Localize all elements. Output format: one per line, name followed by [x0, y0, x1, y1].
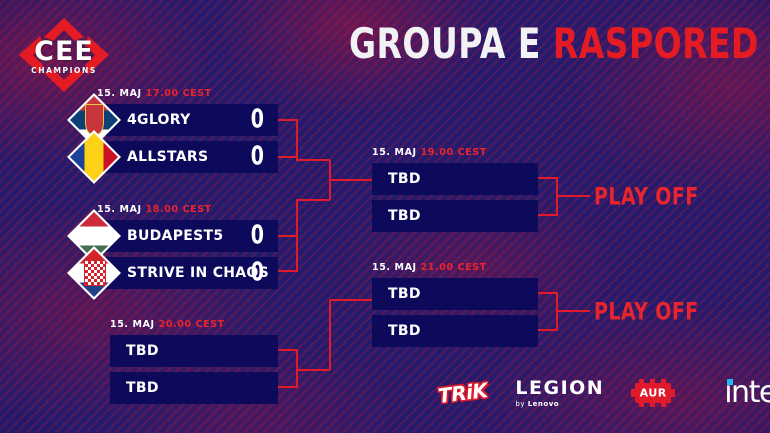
team-name: TBD [388, 208, 421, 224]
match-r1-3: 15. MAJ 20.00 CEST TBD TBD [110, 335, 278, 404]
team-name: TBD [126, 380, 159, 396]
team-score: 0 [251, 107, 264, 133]
team-name: TBD [126, 343, 159, 359]
match-r1-2: 15. MAJ 18.00 CEST BUDAPEST5 0 STRIVE IN… [97, 220, 278, 289]
match-row-team[interactable]: TBD [372, 163, 538, 195]
team-name: ALLSTARS [127, 149, 208, 165]
match-date: 15. MAJ [110, 319, 155, 330]
match-date: 15. MAJ [372, 147, 417, 158]
match-time: 20.00 CEST [159, 319, 225, 330]
sponsor-bar: TRiK LEGION by Lenovo AUR [438, 372, 758, 414]
match-datetime: 15. MAJ 20.00 CEST [110, 319, 225, 330]
playoff-label-1: PLAY OFF [594, 183, 699, 211]
aur-logo-text: AUR [630, 387, 676, 400]
match-date: 15. MAJ [372, 262, 417, 273]
legion-logo: LEGION [515, 379, 604, 398]
match-row-team[interactable]: ALLSTARS 0 [97, 141, 278, 173]
title-red-part: RASPORED [553, 20, 759, 69]
logo-primary-text: CEE [14, 38, 114, 65]
sponsor-trik: TRiK [438, 381, 487, 405]
match-date: 15. MAJ [97, 88, 142, 99]
match-datetime: 15. MAJ 17.00 CEST [97, 88, 212, 99]
team-name: TBD [388, 171, 421, 187]
team-score: 0 [251, 260, 264, 286]
page-title: GROUPA E RASPORED [349, 24, 759, 65]
sponsor-legion: LEGION by Lenovo [515, 379, 604, 408]
match-time: 21.00 CEST [421, 262, 487, 273]
match-row-team[interactable]: TBD [372, 315, 538, 347]
match-time: 18.00 CEST [146, 204, 212, 215]
team-name: BUDAPEST5 [127, 228, 223, 244]
trik-logo: TRiK [437, 378, 489, 408]
match-r1-1: 15. MAJ 17.00 CEST 4GLORY 0 ALLSTARS 0 [97, 104, 278, 173]
match-row-team[interactable]: TBD [372, 200, 538, 232]
tournament-bracket-graphic: CEE CHAMPIONS GROUPA E RASPORED [0, 0, 770, 433]
match-row-team[interactable]: TBD [372, 278, 538, 310]
intel-dot-icon [727, 379, 733, 385]
team-name: 4GLORY [127, 112, 191, 128]
match-row-team[interactable]: BUDAPEST5 0 [97, 220, 278, 252]
playoff-label-2: PLAY OFF [594, 298, 699, 326]
match-date: 15. MAJ [97, 204, 142, 215]
match-row-team[interactable]: TBD [110, 335, 278, 367]
match-time: 19.00 CEST [421, 147, 487, 158]
match-row-team[interactable]: TBD [110, 372, 278, 404]
team-name: TBD [388, 323, 421, 339]
match-datetime: 15. MAJ 19.00 CEST [372, 147, 487, 158]
team-name: TBD [388, 286, 421, 302]
team-score: 0 [251, 223, 264, 249]
team-name: STRIVE IN CHAOS [127, 265, 269, 281]
match-row-team[interactable]: STRIVE IN CHAOS 0 [97, 257, 278, 289]
cee-champions-logo: CEE CHAMPIONS [14, 16, 114, 94]
match-datetime: 15. MAJ 18.00 CEST [97, 204, 212, 215]
logo-secondary-text: CHAMPIONS [14, 66, 114, 75]
match-r2-1: 15. MAJ 19.00 CEST TBD TBD [372, 163, 538, 232]
match-r2-2: 15. MAJ 21.00 CEST TBD TBD [372, 278, 538, 347]
title-white-part: GROUPA E [349, 20, 541, 69]
match-row-team[interactable]: 4GLORY 0 [97, 104, 278, 136]
match-time: 17.00 CEST [146, 88, 212, 99]
match-datetime: 15. MAJ 21.00 CEST [372, 262, 487, 273]
sponsor-aur: AUR [630, 378, 676, 408]
legion-sublabel: by Lenovo [515, 400, 559, 408]
team-score: 0 [251, 144, 264, 170]
sponsor-intel: intel. [724, 378, 770, 408]
